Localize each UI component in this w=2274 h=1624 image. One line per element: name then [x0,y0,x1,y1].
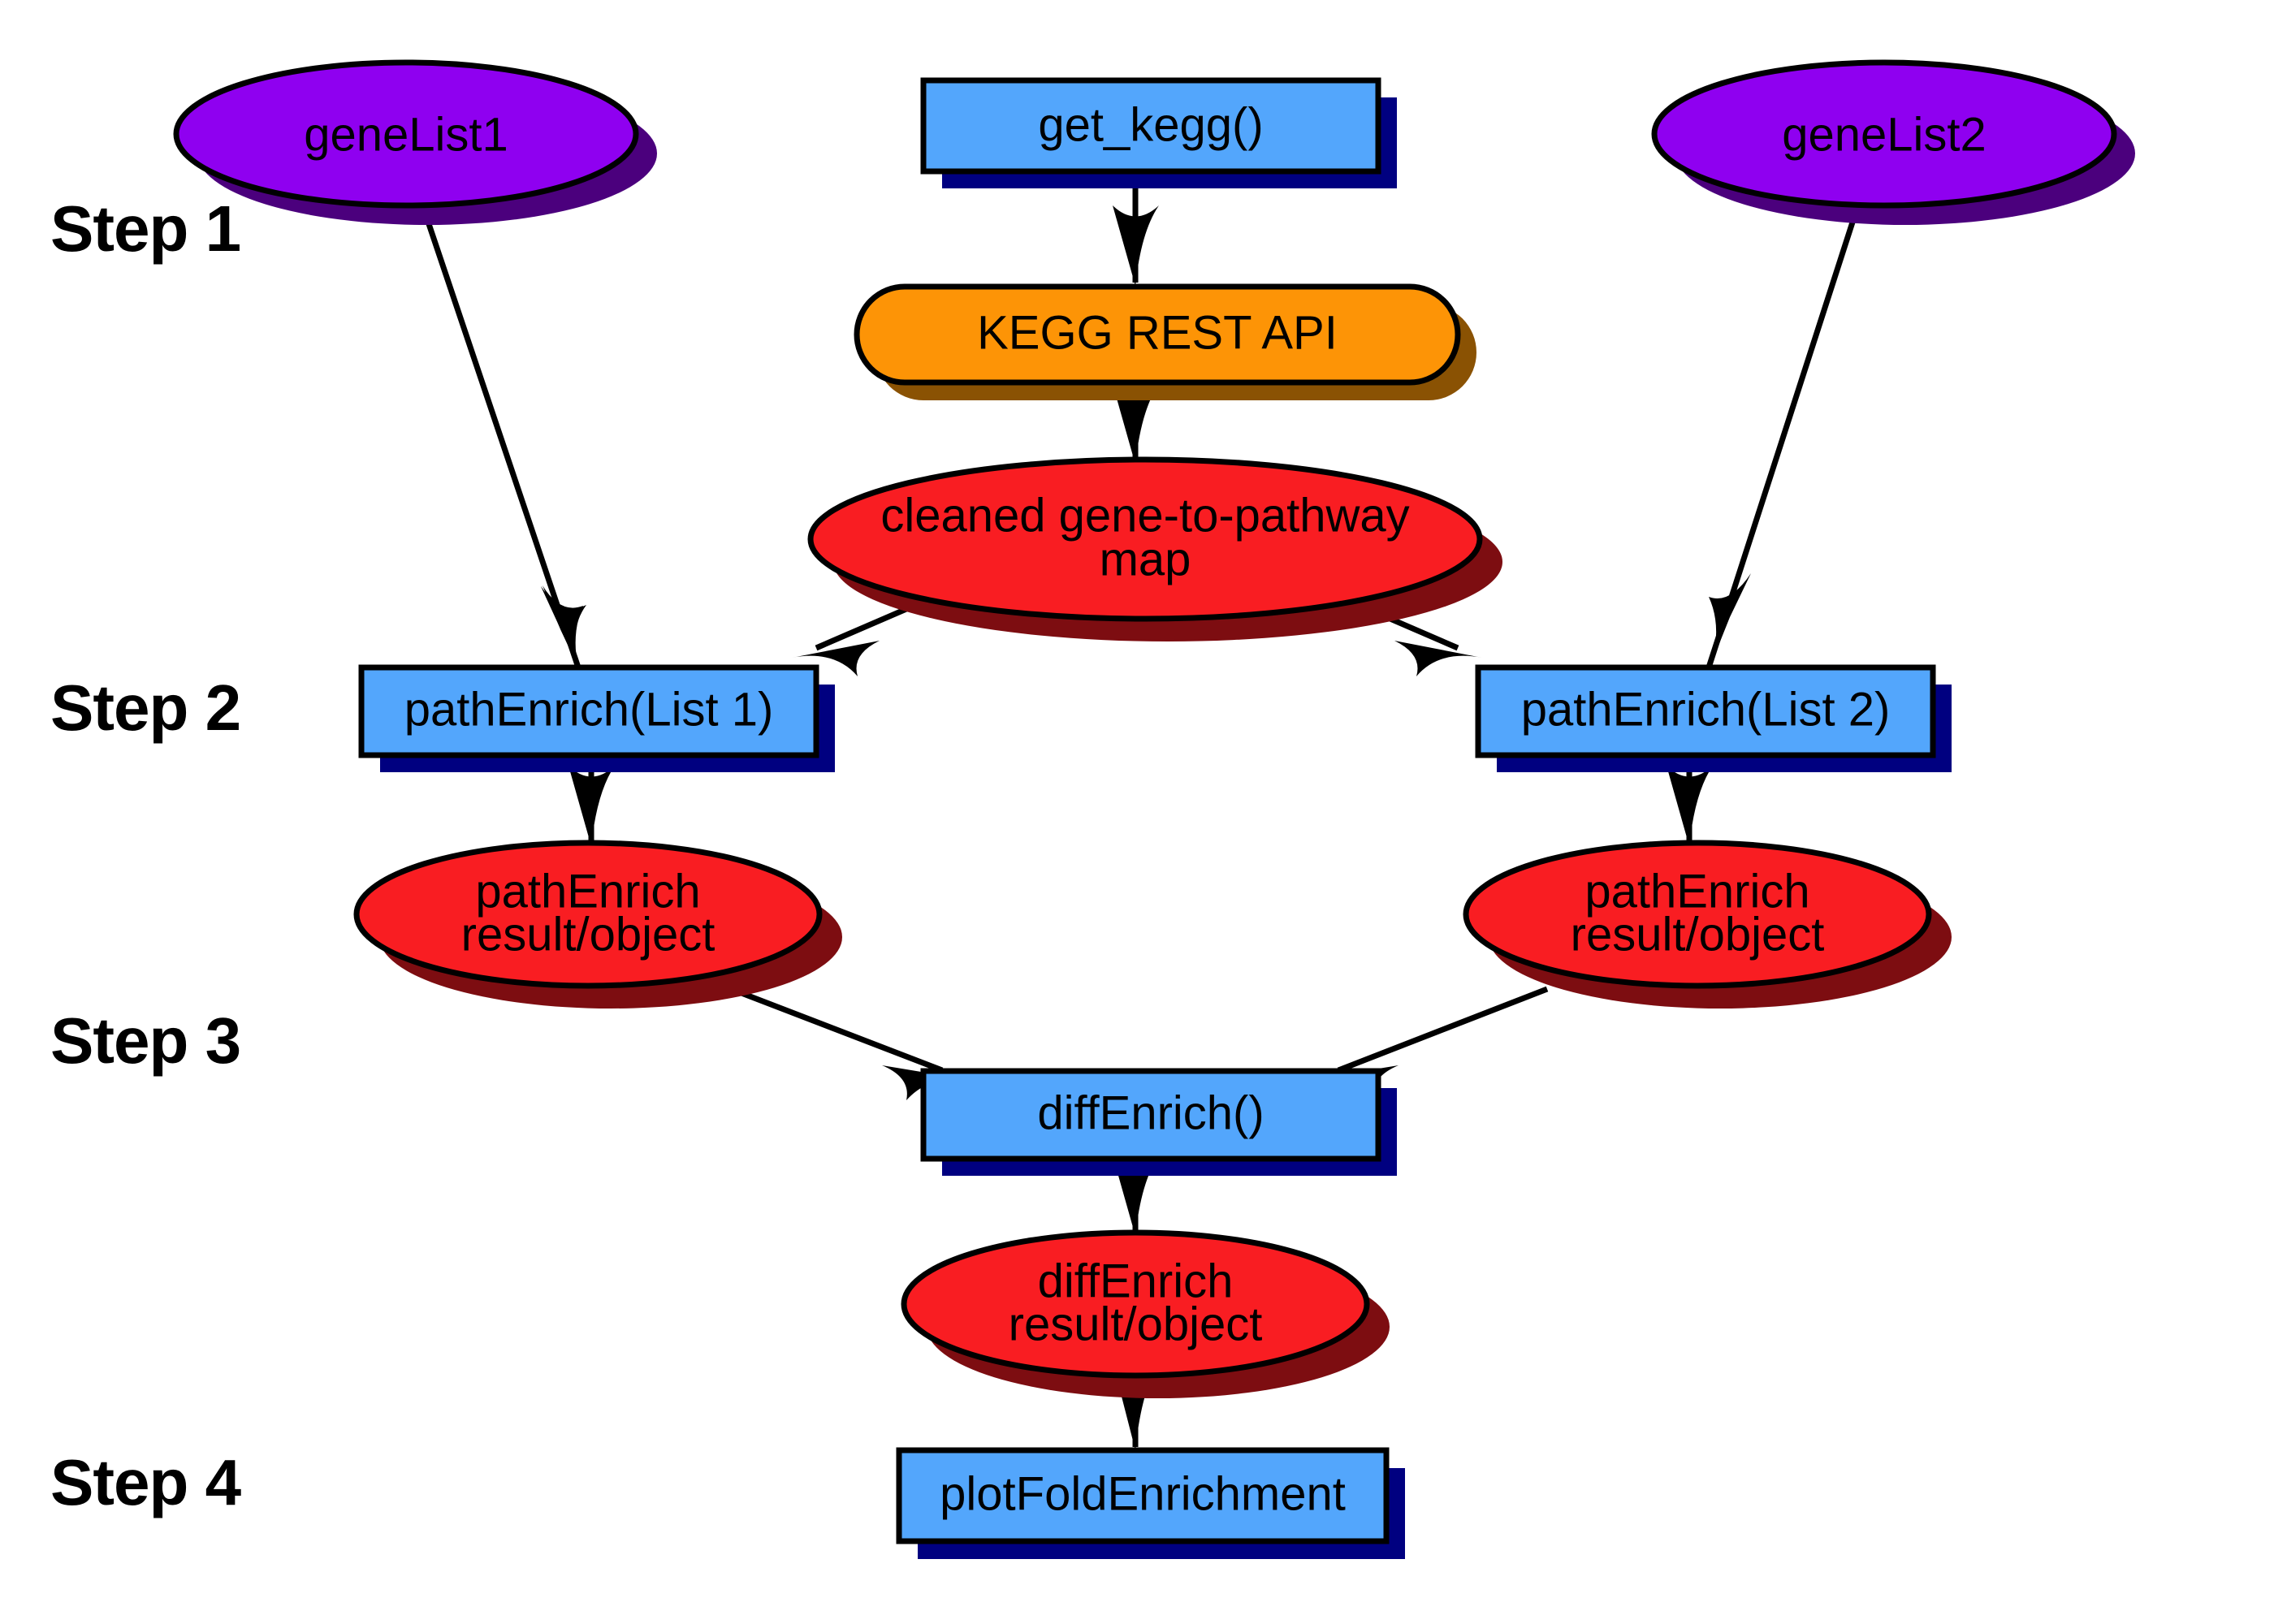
step-label-4: Step 4 [50,1446,242,1518]
pathenrich-result2-label-line2: result/object [1571,908,1825,961]
edge-getkegg-to-keggrest [1113,188,1159,286]
node-kegg-rest-api[interactable]: KEGG REST API [857,287,1476,400]
genelist2-label: geneList2 [1782,108,1987,161]
get-kegg-label: get_kegg() [1038,98,1263,151]
node-plotfoldenrichment[interactable]: plotFoldEnrichment [899,1450,1405,1559]
edge-pathenrich2-to-result2 [1667,765,1713,846]
node-pathenrich-list2[interactable]: pathEnrich(List 2) [1478,667,1952,772]
node-diffenrich-fn[interactable]: diffEnrich() [923,1071,1397,1176]
edge-genelist1-to-pathenrich1 [422,205,586,667]
plotfoldenrichment-label: plotFoldEnrichment [940,1467,1346,1520]
pathenrich-list1-label: pathEnrich(List 1) [404,683,774,736]
edge-genelist2-to-pathenrich2 [1709,205,1858,667]
edge-pathenrich1-to-result1 [568,765,615,846]
node-pathenrich-list1[interactable]: pathEnrich(List 1) [361,667,835,772]
diagram-canvas: Step 1 Step 2 Step 3 Step 4 geneList1 ge… [0,0,2274,1624]
node-diffenrich-result[interactable]: diffEnrich result/object [904,1233,1390,1398]
node-pathenrich-result1[interactable]: pathEnrich result/object [357,843,842,1009]
kegg-rest-api-label: KEGG REST API [977,306,1338,359]
pathenrich-result1-label-line2: result/object [461,908,715,961]
step-label-layer: Step 1 Step 2 Step 3 Step 4 [50,192,242,1518]
node-pathenrich-result2[interactable]: pathEnrich result/object [1466,843,1952,1009]
cleaned-map-label-line2: map [1100,533,1191,585]
node-genelist2[interactable]: geneList2 [1654,63,2135,225]
step-label-1: Step 1 [50,192,240,265]
diffenrich-fn-label: diffEnrich() [1037,1086,1264,1139]
node-cleaned-map[interactable]: cleaned gene-to-pathway map [811,460,1502,641]
node-genelist1[interactable]: geneList1 [176,63,657,225]
step-label-2: Step 2 [50,672,240,744]
step-label-3: Step 3 [50,1004,240,1077]
genelist1-label: geneList1 [304,108,508,161]
diffenrich-result-label-line2: result/object [1009,1298,1263,1350]
workflow-diagram: Step 1 Step 2 Step 3 Step 4 geneList1 ge… [0,0,2274,1624]
node-get-kegg[interactable]: get_kegg() [923,80,1397,188]
pathenrich-list2-label: pathEnrich(List 2) [1521,683,1891,736]
